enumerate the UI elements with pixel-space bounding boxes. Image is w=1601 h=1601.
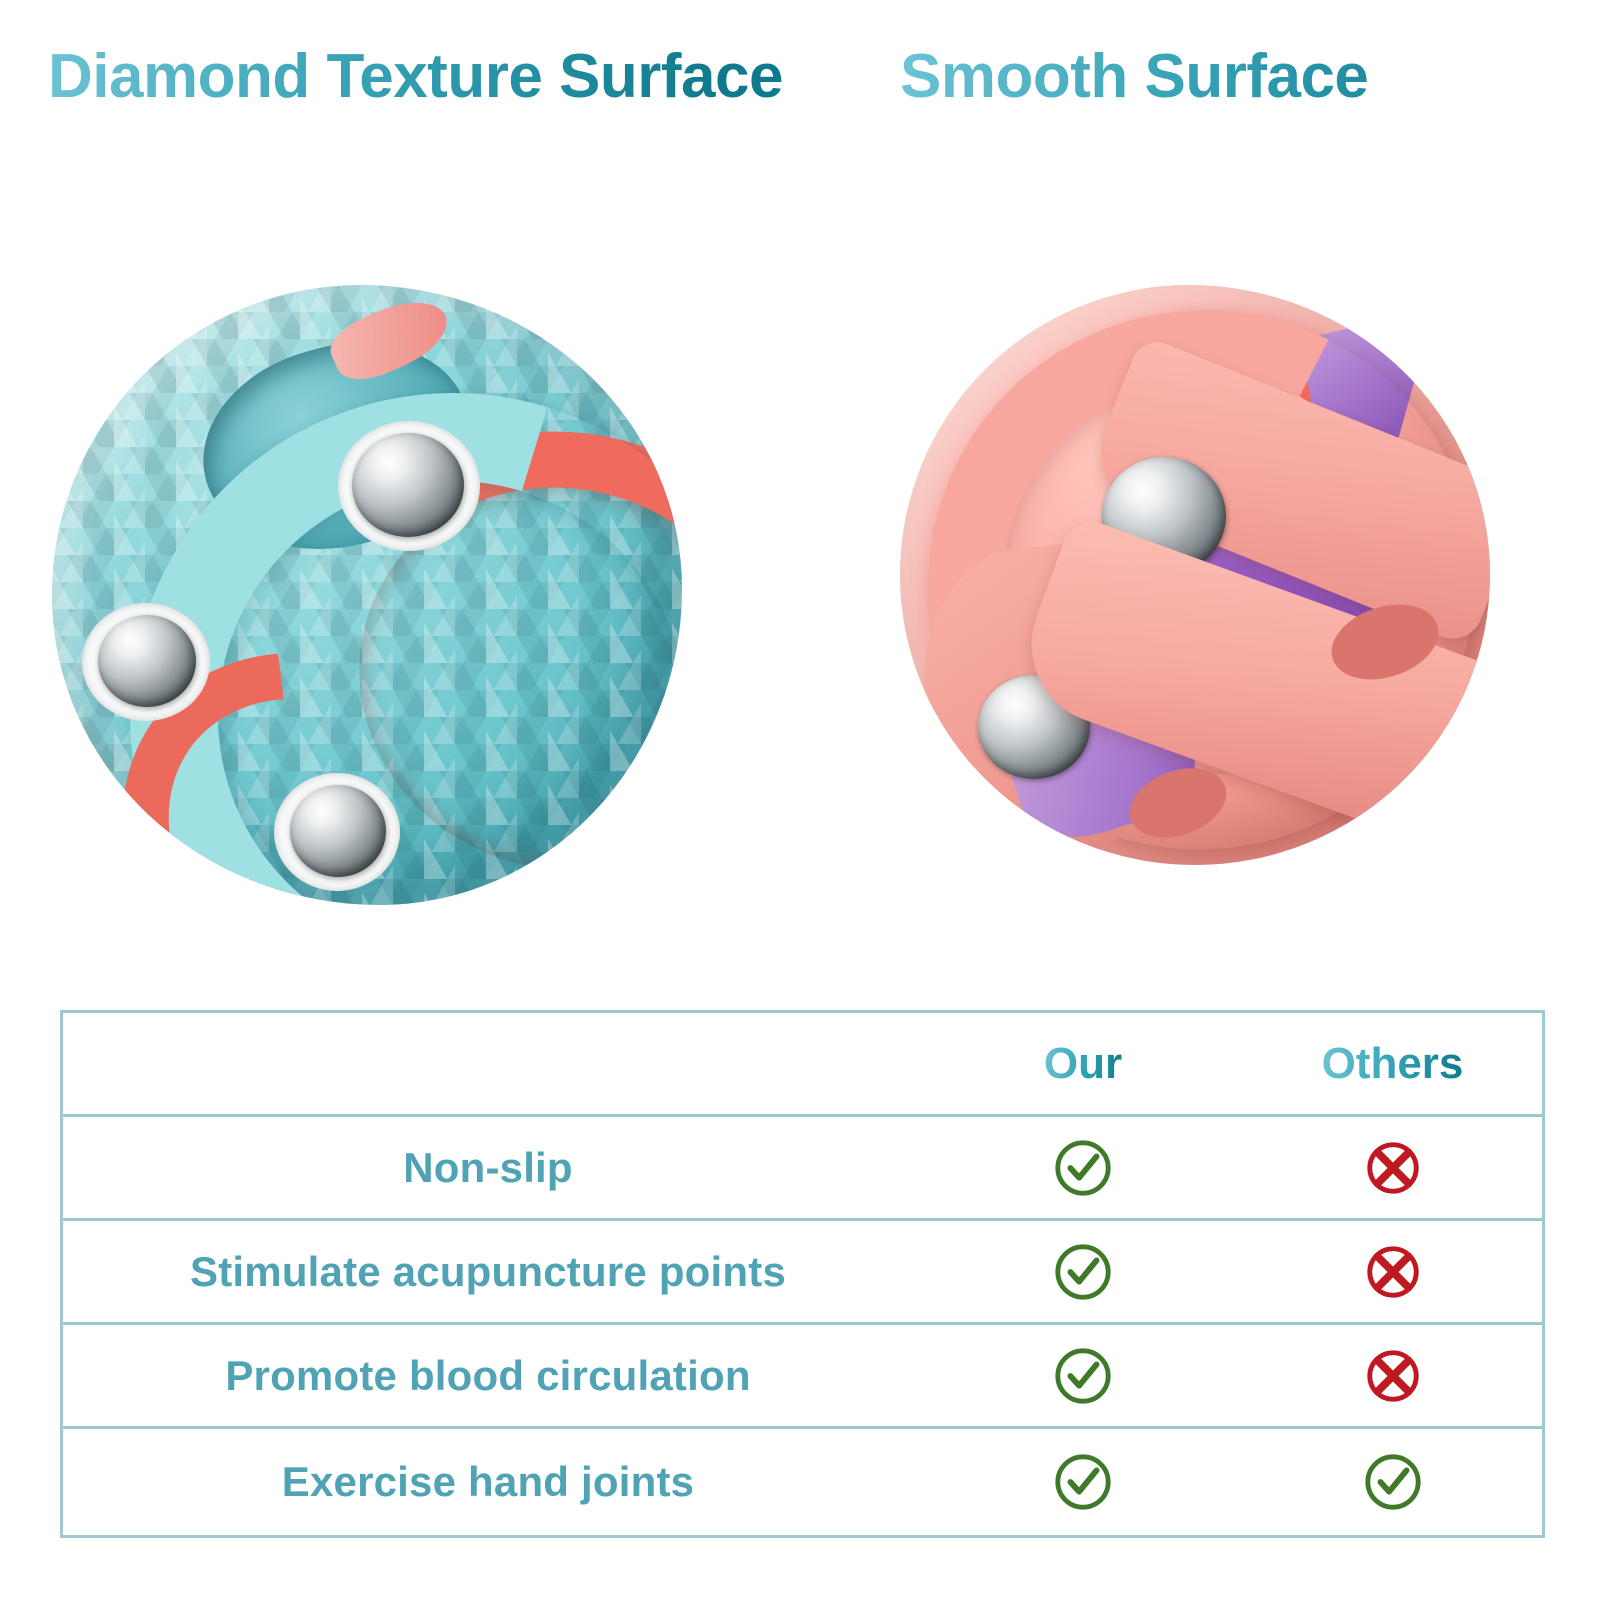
row-our-cell [923, 1345, 1243, 1407]
row-feature-label: Exercise hand joints [282, 1458, 694, 1505]
table-row: Promote blood circulation [63, 1325, 1542, 1429]
diamond-ball-body [52, 285, 682, 905]
headings-row: Diamond Texture Surface Smooth Surface [0, 0, 1601, 200]
row-feature-label: Stimulate acupuncture points [190, 1248, 786, 1295]
steel-ball-left [98, 615, 196, 707]
bottom-margin [0, 1538, 1601, 1601]
row-feature-cell: Stimulate acupuncture points [63, 1248, 923, 1296]
table-row: Exercise hand joints [63, 1429, 1542, 1534]
heading-smooth-surface: Smooth Surface [900, 44, 1600, 110]
cross-icon [1362, 1241, 1424, 1303]
check-icon [1052, 1451, 1114, 1513]
steel-ball-top [352, 433, 464, 537]
check-icon [1052, 1241, 1114, 1303]
row-feature-cell: Non-slip [63, 1144, 923, 1192]
row-feature-cell: Promote blood circulation [63, 1352, 923, 1400]
table-row: Non-slip [63, 1117, 1542, 1221]
heading-diamond-texture-surface: Diamond Texture Surface [48, 44, 808, 110]
table-header-row: Our Others [63, 1013, 1542, 1117]
row-others-cell [1243, 1137, 1542, 1199]
cross-icon [1362, 1345, 1424, 1407]
row-our-cell [923, 1451, 1243, 1513]
comparison-table: Our Others Non-slip [60, 1010, 1545, 1538]
row-our-cell [923, 1137, 1243, 1199]
table-row: Stimulate acupuncture points [63, 1221, 1542, 1325]
smooth-ball-body [900, 285, 1490, 865]
header-others-cell: Others [1243, 1039, 1542, 1089]
steel-ball-bottom [290, 785, 386, 877]
row-others-cell [1243, 1451, 1542, 1513]
row-feature-label: Promote blood circulation [225, 1352, 750, 1399]
check-icon [1362, 1451, 1424, 1513]
row-others-cell [1243, 1241, 1542, 1303]
check-icon [1052, 1345, 1114, 1407]
header-others-label: Others [1322, 1039, 1464, 1089]
cross-icon [1362, 1137, 1424, 1199]
header-our-cell: Our [923, 1039, 1243, 1089]
row-our-cell [923, 1241, 1243, 1303]
row-feature-cell: Exercise hand joints [63, 1458, 923, 1506]
row-feature-label: Non-slip [403, 1144, 573, 1191]
check-icon [1052, 1137, 1114, 1199]
header-our-label: Our [1044, 1039, 1122, 1089]
product-images-row [0, 215, 1601, 975]
row-others-cell [1243, 1345, 1542, 1407]
product-image-smooth-surface-ball [880, 265, 1520, 905]
product-image-diamond-texture-ball [22, 250, 712, 940]
